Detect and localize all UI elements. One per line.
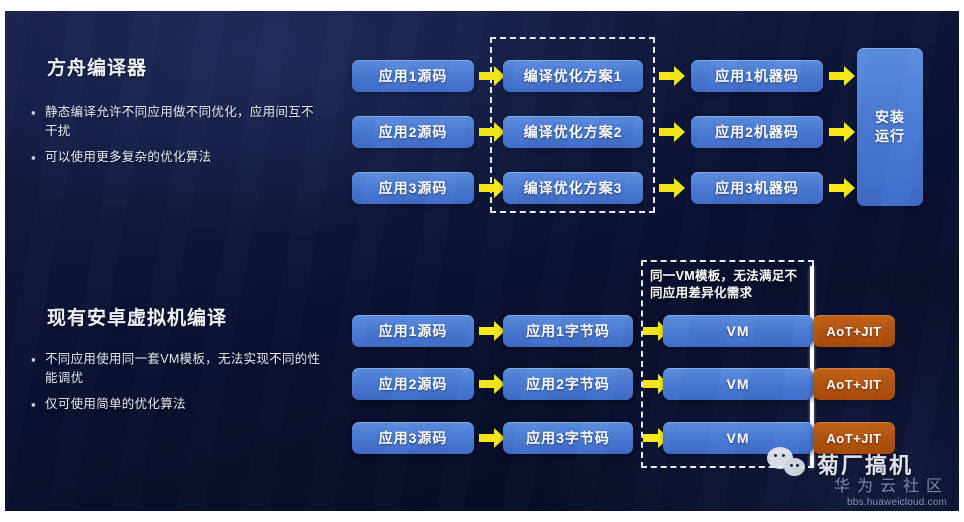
chat-bubble-small xyxy=(784,458,805,476)
top-section-title: 方舟编译器 xyxy=(47,53,147,80)
flow-box-bottom-vm-2: VM xyxy=(663,368,813,400)
arrow-right-icon xyxy=(659,122,685,142)
flow-box-top-machine-3: 应用3机器码 xyxy=(691,172,823,204)
flow-box-bottom-bytecode-1: 应用1字节码 xyxy=(503,315,633,347)
arrow-right-icon xyxy=(479,178,505,198)
bullet-marker-icon: ▪ xyxy=(31,350,45,369)
flow-box-top-src-1: 应用1源码 xyxy=(352,60,474,92)
bottom-section-bullets: ▪ 不同应用使用同一套VM模板，无法实现不同的性能调优 ▪ 仅可使用简单的优化算… xyxy=(31,350,321,421)
bottom-section-title: 现有安卓虚拟机编译 xyxy=(47,303,227,330)
flow-box-bottom-src-3: 应用3源码 xyxy=(352,422,474,454)
install-run-line-1: 安装 xyxy=(875,108,905,127)
bullet-marker-icon: ▪ xyxy=(31,103,45,122)
bullet-item: ▪ 静态编译允许不同应用做不同优化，应用间互不干扰 xyxy=(31,103,321,141)
arrow-right-icon xyxy=(829,122,855,142)
flow-box-top-install-run: 安装 运行 xyxy=(857,48,923,206)
flow-box-top-machine-1: 应用1机器码 xyxy=(691,60,823,92)
bullet-text: 仅可使用简单的优化算法 xyxy=(45,395,186,414)
arrow-right-icon xyxy=(479,374,505,394)
bullet-item: ▪ 仅可使用简单的优化算法 xyxy=(31,395,321,414)
bullet-text: 可以使用更多复杂的优化算法 xyxy=(45,148,211,167)
flow-box-bottom-aotjit-1: AoT+JIT xyxy=(813,315,895,347)
flow-box-bottom-aotjit-2: AoT+JIT xyxy=(813,368,895,400)
flow-box-bottom-vm-1: VM xyxy=(663,315,813,347)
bullet-marker-icon: ▪ xyxy=(31,395,45,414)
watermark-url: bbs.huaweicloud.com xyxy=(767,497,953,508)
arrow-right-icon xyxy=(479,66,505,86)
flow-box-bottom-src-1: 应用1源码 xyxy=(352,315,474,347)
arrow-right-icon xyxy=(479,321,505,341)
vm-annotation-text: 同一VM模板，无法满足不同应用差异化需求 xyxy=(650,268,810,302)
bullet-text: 静态编译允许不同应用做不同优化，应用间互不干扰 xyxy=(45,103,321,141)
slide-canvas: 方舟编译器 ▪ 静态编译允许不同应用做不同优化，应用间互不干扰 ▪ 可以使用更多… xyxy=(5,11,959,511)
flow-box-bottom-bytecode-2: 应用2字节码 xyxy=(503,368,633,400)
bullet-item: ▪ 不同应用使用同一套VM模板，无法实现不同的性能调优 xyxy=(31,350,321,388)
arrow-right-icon xyxy=(659,66,685,86)
top-section-bullets: ▪ 静态编译允许不同应用做不同优化，应用间互不干扰 ▪ 可以使用更多复杂的优化算… xyxy=(31,103,321,174)
flow-box-top-opt-2: 编译优化方案2 xyxy=(503,116,643,148)
arrow-right-icon xyxy=(829,178,855,198)
flow-box-top-src-2: 应用2源码 xyxy=(352,116,474,148)
bullet-marker-icon: ▪ xyxy=(31,148,45,167)
install-run-line-2: 运行 xyxy=(875,127,905,146)
slide-root: 方舟编译器 ▪ 静态编译允许不同应用做不同优化，应用间互不干扰 ▪ 可以使用更多… xyxy=(0,0,964,522)
bullet-text: 不同应用使用同一套VM模板，无法实现不同的性能调优 xyxy=(45,350,321,388)
arrow-right-icon xyxy=(829,66,855,86)
flow-box-bottom-bytecode-3: 应用3字节码 xyxy=(503,422,633,454)
flow-box-top-machine-2: 应用2机器码 xyxy=(691,116,823,148)
watermark: 菊厂搞机 华为云社区 bbs.huaweicloud.com xyxy=(767,447,953,509)
flow-box-bottom-src-2: 应用2源码 xyxy=(352,368,474,400)
arrow-right-icon xyxy=(659,178,685,198)
arrow-right-icon xyxy=(479,428,505,448)
bullet-item: ▪ 可以使用更多复杂的优化算法 xyxy=(31,148,321,167)
flow-box-top-opt-3: 编译优化方案3 xyxy=(503,172,643,204)
wechat-icon xyxy=(767,447,811,481)
flow-box-top-opt-1: 编译优化方案1 xyxy=(503,60,643,92)
flow-box-top-src-3: 应用3源码 xyxy=(352,172,474,204)
arrow-right-icon xyxy=(479,122,505,142)
